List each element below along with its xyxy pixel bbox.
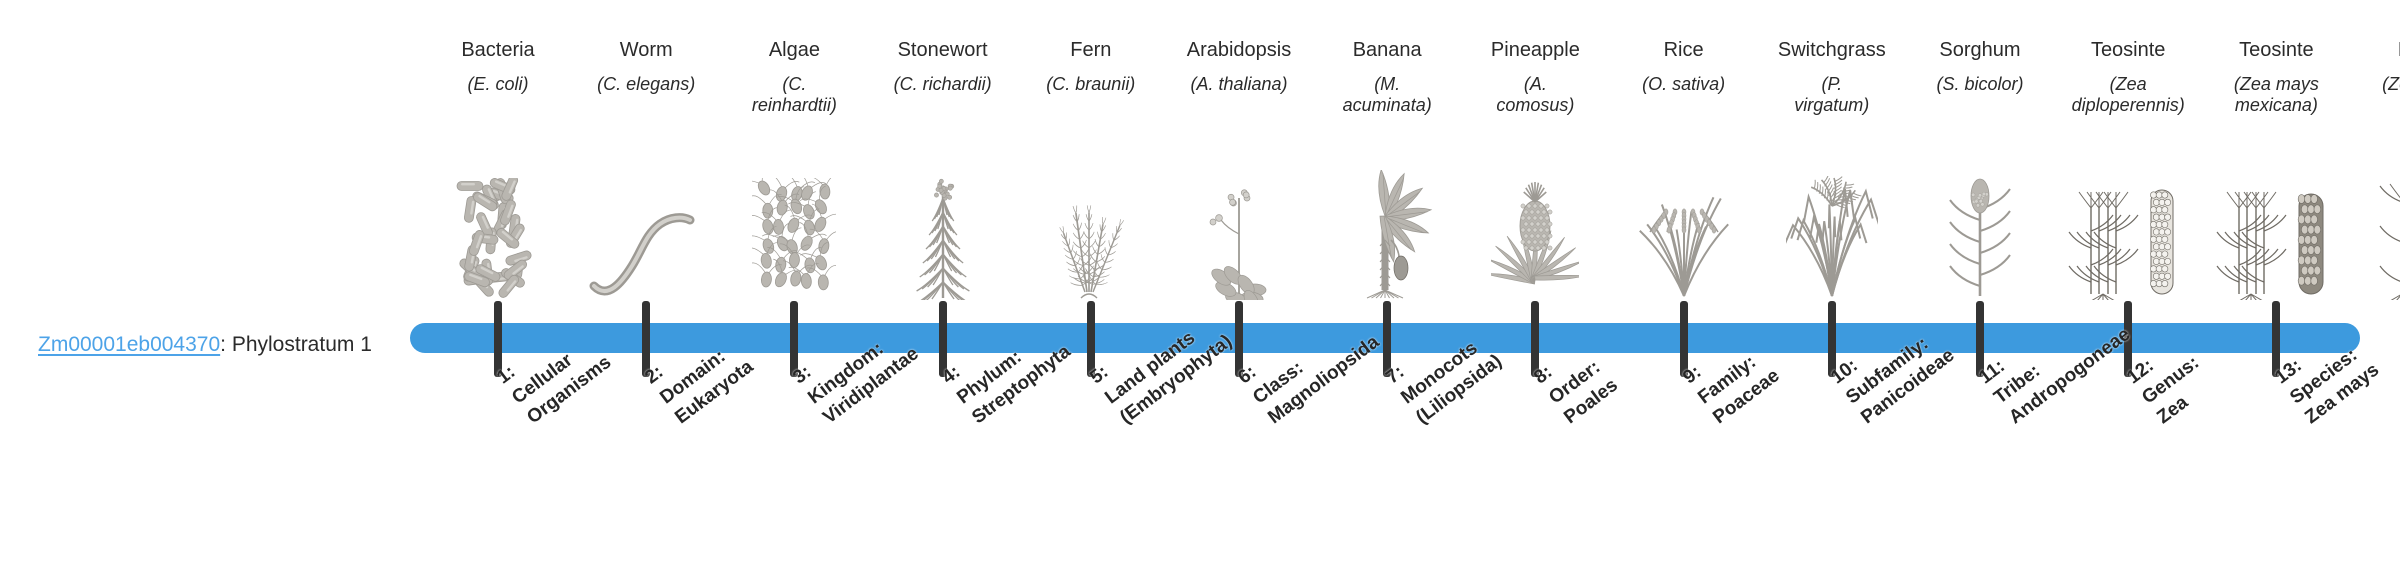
species-header: Teosinte(Zeadiploperennis) — [2053, 38, 2203, 120]
gene-id-link[interactable]: Zm00001eb004370 — [38, 333, 220, 356]
species-common-name: Banana — [1312, 38, 1462, 64]
worm-icon — [571, 170, 721, 300]
species-scientific-name: (Zea maysmays) — [2350, 74, 2400, 120]
species-scientific-name: (P.virgatum) — [1757, 74, 1907, 120]
species-common-name: Teosinte — [2053, 38, 2203, 64]
gene-label-separator: : — [220, 333, 232, 356]
species-common-name: Stonewort — [868, 38, 1018, 64]
species-common-name: Arabidopsis — [1164, 38, 1314, 64]
species-scientific-name: (C. elegans) — [571, 74, 721, 120]
stonewort-icon — [868, 170, 1018, 300]
species-common-name: Bacteria — [423, 38, 573, 64]
species-header: Sorghum(S. bicolor) — [1905, 38, 2055, 120]
taxonomic-rank-label: 6: Class: Magnoliopsida — [1233, 290, 1384, 430]
sorghum-icon — [1905, 170, 2055, 300]
switchgrass-icon — [1757, 170, 1907, 300]
species-header: Bacteria(E. coli) — [423, 38, 573, 120]
fern-icon — [1016, 170, 1166, 300]
species-header: Banana(M.acuminata) — [1312, 38, 1462, 120]
taxonomic-rank-label: 11: Tribe: Andropogoneae — [1974, 282, 2135, 430]
pineapple-icon — [1460, 170, 1610, 300]
species-common-name: Maize — [2350, 38, 2400, 64]
taxonomic-rank-label: 4: Phylum: Streptophyta — [937, 299, 1076, 429]
species-header: Fern(C. braunii) — [1016, 38, 1166, 120]
species-scientific-name: (Zeadiploperennis) — [2053, 74, 2203, 120]
species-scientific-name: (S. bicolor) — [1905, 74, 2055, 120]
species-common-name: Pineapple — [1460, 38, 1610, 64]
arabidopsis-icon: ;;;;;;; — [1164, 170, 1314, 300]
species-common-name: Rice — [1609, 38, 1759, 64]
species-header: Algae(C.reinhardtii) — [719, 38, 869, 120]
species-scientific-name: (M.acuminata) — [1312, 74, 1462, 120]
species-header: Switchgrass(P.virgatum) — [1757, 38, 1907, 120]
banana-icon — [1312, 170, 1462, 300]
species-scientific-name: (E. coli) — [423, 74, 573, 120]
maize-icon — [2350, 170, 2400, 300]
rice-icon — [1609, 170, 1759, 300]
species-scientific-name: (C. richardii) — [868, 74, 1018, 120]
species-header: Worm(C. elegans) — [571, 38, 721, 120]
species-scientific-name: (C.reinhardtii) — [719, 74, 869, 120]
gene-phylostratum-label: Zm00001eb004370: Phylostratum 1 — [38, 333, 372, 357]
bacteria-icon — [423, 170, 573, 300]
taxonomic-rank-label: 3: Kingdom: Viridiplantae — [788, 302, 924, 430]
algae-icon — [719, 170, 869, 300]
species-scientific-name: (O. sativa) — [1609, 74, 1759, 120]
species-header: Maize(Zea maysmays) — [2350, 38, 2400, 120]
species-header: Rice(O. sativa) — [1609, 38, 1759, 120]
species-common-name: Teosinte — [2201, 38, 2351, 64]
phylostratum-value: Phylostratum 1 — [232, 333, 372, 356]
species-common-name: Worm — [571, 38, 721, 64]
species-header: Arabidopsis(A. thaliana) — [1164, 38, 1314, 120]
species-common-name: Algae — [719, 38, 869, 64]
species-common-name: Sorghum — [1905, 38, 2055, 64]
species-common-name: Fern — [1016, 38, 1166, 64]
species-header: Stonewort(C. richardii) — [868, 38, 1018, 120]
species-header: Pineapple(A.comosus) — [1460, 38, 1610, 120]
species-scientific-name: (C. braunii) — [1016, 74, 1166, 120]
phylostratum-figure: Zm00001eb004370: Phylostratum 1 Bacteria… — [0, 0, 2400, 580]
taxonomic-rank-label: 5: Land plants (Embryophyta) — [1085, 289, 1237, 430]
teosinte-diploperennis-icon — [2053, 170, 2203, 300]
species-scientific-name: (Zea maysmexicana) — [2201, 74, 2351, 120]
species-common-name: Switchgrass — [1757, 38, 1907, 64]
species-scientific-name: (A.comosus) — [1460, 74, 1610, 120]
teosinte-mexicana-icon — [2201, 170, 2351, 300]
species-header: Teosinte(Zea maysmexicana) — [2201, 38, 2351, 120]
species-scientific-name: (A. thaliana) — [1164, 74, 1314, 120]
